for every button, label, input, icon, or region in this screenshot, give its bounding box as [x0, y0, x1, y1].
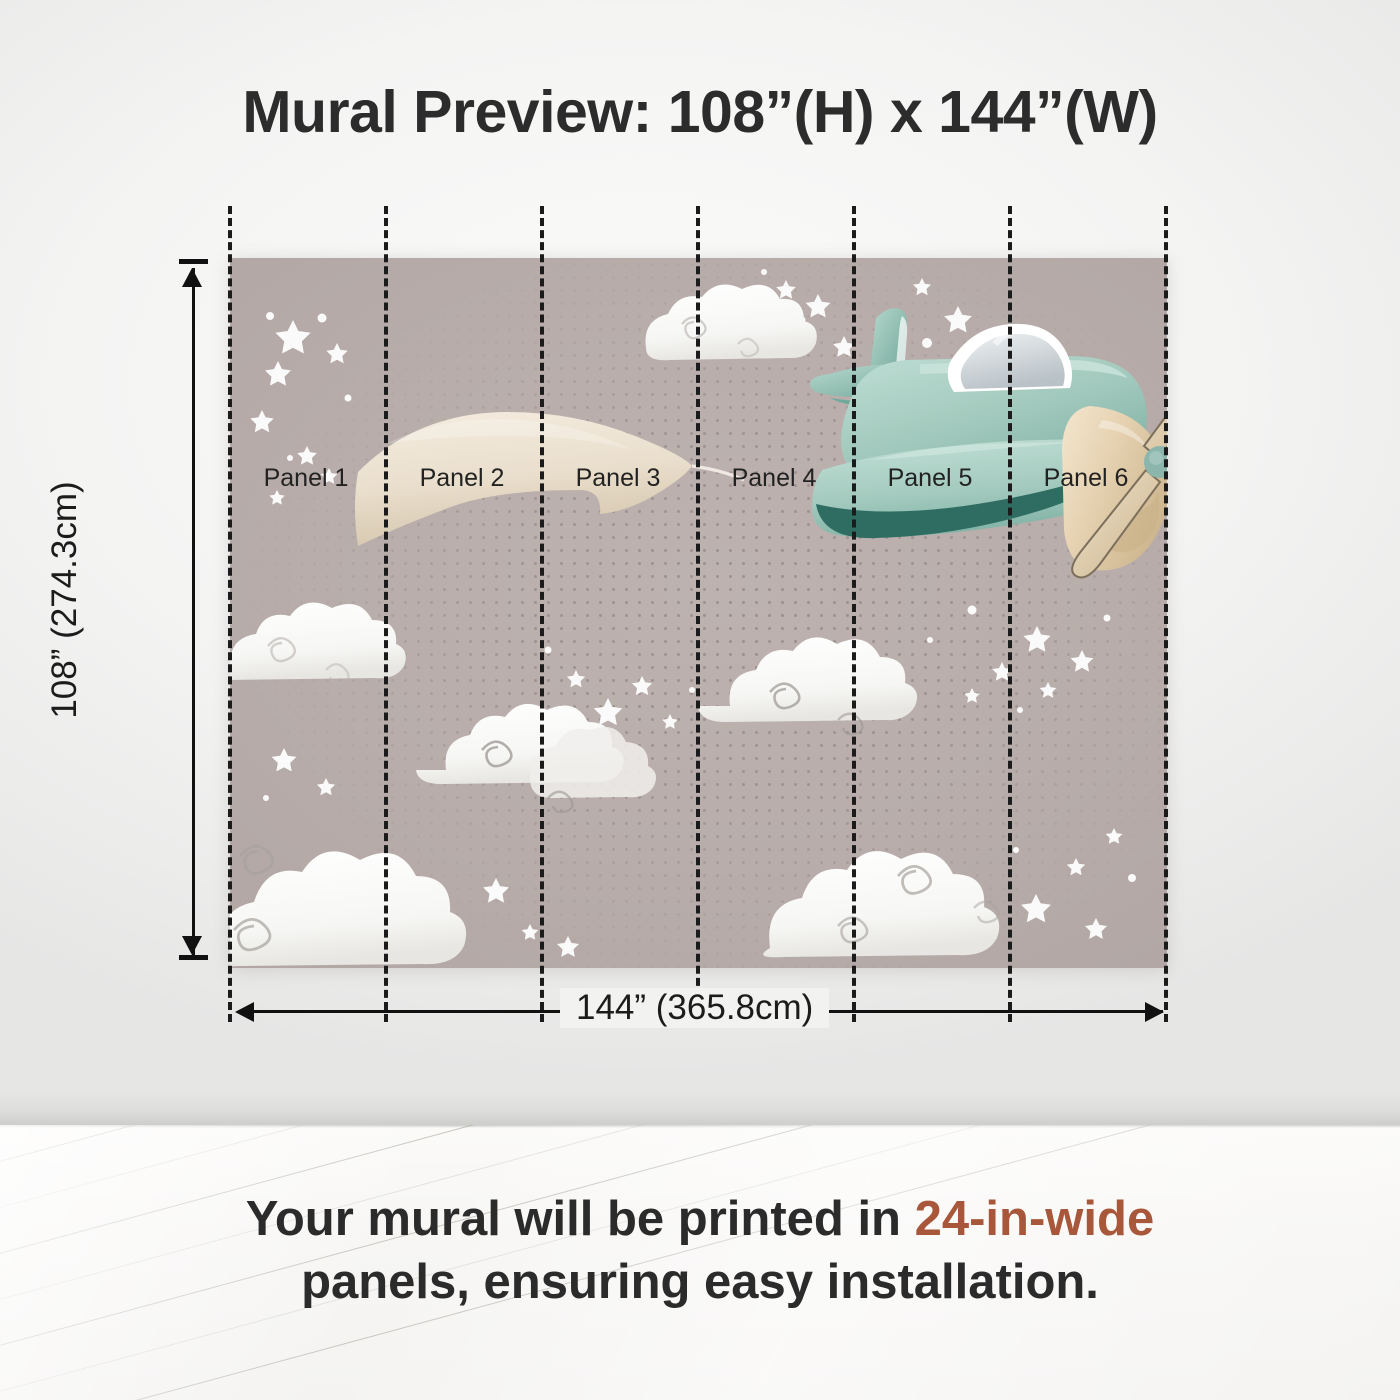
panel-divider-0 [228, 206, 232, 1022]
panel-divider-3 [696, 206, 700, 1022]
panel-label-5: Panel 5 [852, 464, 1008, 493]
panel-label-4: Panel 4 [696, 464, 852, 493]
caption: Your mural will be printed in 24-in-wide… [0, 1188, 1400, 1313]
panel-label-3: Panel 3 [540, 464, 696, 493]
width-dimension-label: 144” (365.8cm) [560, 988, 829, 1028]
caption-line-2: panels, ensuring easy installation. [0, 1251, 1400, 1314]
caption-line-1-before: Your mural will be printed in [246, 1192, 915, 1246]
height-arrow-down-icon [182, 936, 202, 955]
wall-floor-edge [0, 1125, 1400, 1128]
height-cap-top [179, 259, 208, 264]
height-arrow-up-icon [182, 268, 202, 287]
panel-divider-1 [384, 206, 388, 1022]
height-dimension-label: 108” (274.3cm) [45, 435, 85, 765]
panel-label-1: Panel 1 [228, 464, 384, 493]
width-arrow-left-icon [235, 1002, 254, 1022]
panel-divider-2 [540, 206, 544, 1022]
caption-accent-text: 24-in-wide [915, 1192, 1155, 1246]
panel-divider-5 [1008, 206, 1012, 1022]
width-arrow-right-icon [1145, 1002, 1164, 1022]
panel-label-2: Panel 2 [384, 464, 540, 493]
panel-label-6: Panel 6 [1008, 464, 1164, 493]
airplane [810, 308, 1167, 577]
caption-line-1: Your mural will be printed in 24-in-wide [0, 1188, 1400, 1251]
height-dimension-line [192, 268, 195, 955]
page-title: Mural Preview: 108”(H) x 144”(W) [0, 78, 1400, 146]
panel-divider-6 [1164, 206, 1168, 1022]
height-cap-bottom [179, 955, 208, 960]
panel-divider-4 [852, 206, 856, 1022]
mural-preview: Panel 1 Panel 2 Panel 3 Panel 4 Panel 5 … [230, 258, 1167, 968]
